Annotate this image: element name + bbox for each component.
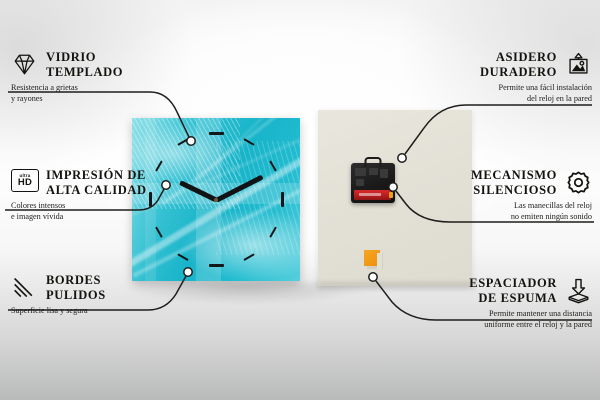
feature-description: Las manecillas del reloj no emiten ningú… <box>396 201 592 222</box>
feature-espaciador-espuma: ESPACIADOR DE ESPUMA Permite mantener un… <box>392 276 592 330</box>
infographic-canvas: VIDRIO TEMPLADO Resistencia a grietas y … <box>0 0 600 400</box>
polished-edges-icon <box>11 274 38 301</box>
feature-description: Resistencia a grietas y rayones <box>11 83 197 104</box>
gear-icon <box>565 169 592 196</box>
feature-description: Permite mantener una distancia uniforme … <box>392 309 592 330</box>
feature-bordes-pulidos: BORDES PULIDOS Superficie lisa y segura <box>11 273 201 317</box>
feature-title: MECANISMO SILENCIOSO <box>471 168 557 197</box>
feature-vidrio-templado: VIDRIO TEMPLADO Resistencia a grietas y … <box>11 50 197 104</box>
feature-title: ESPACIADOR DE ESPUMA <box>469 276 557 305</box>
foam-spacer-icon <box>565 277 592 304</box>
feature-description: Colores intensos e imagen vívida <box>11 201 201 222</box>
feature-title: IMPRESIÓN DE ALTA CALIDAD <box>46 168 147 197</box>
connector-dot-asidero <box>398 154 406 162</box>
feature-description: Superficie lisa y segura <box>11 306 201 317</box>
feature-description: Permite una fácil instalación del reloj … <box>400 83 592 104</box>
feature-title: VIDRIO TEMPLADO <box>46 50 123 79</box>
feature-asidero-duradero: ASIDERO DURADERO Permite una fácil insta… <box>400 50 592 104</box>
ultra-hd-icon: ultra HD <box>11 169 38 196</box>
diamond-icon <box>11 51 38 78</box>
connector-asidero <box>405 105 592 154</box>
connector-dot-vidrio-templado <box>187 137 195 145</box>
feature-title: BORDES PULIDOS <box>46 273 106 302</box>
feature-title: ASIDERO DURADERO <box>480 50 557 79</box>
feature-impresion-alta-calidad: ultra HD IMPRESIÓN DE ALTA CALIDAD Color… <box>11 168 201 222</box>
picture-hanger-icon <box>565 51 592 78</box>
feature-mecanismo-silencioso: MECANISMO SILENCIOSO Las manecillas del … <box>396 168 592 222</box>
connector-dot-espaciador <box>369 273 377 281</box>
